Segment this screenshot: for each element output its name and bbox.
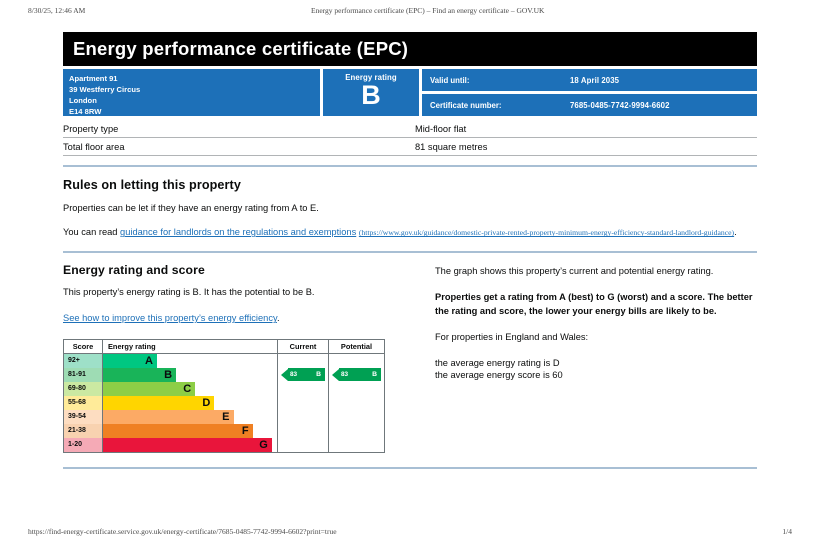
- energy-rating-badge: Energy rating B: [323, 69, 419, 116]
- arrow-left-icon: [332, 369, 339, 381]
- epc-graph-header: Score Energy rating Current Potential: [64, 340, 384, 354]
- rating-bar-c: C: [103, 382, 277, 396]
- rules-heading: Rules on letting this property: [63, 178, 757, 192]
- explainer-paragraph-3: For properties in England and Wales:: [435, 331, 757, 344]
- explainer-paragraph-2: Properties get a rating from A (best) to…: [435, 291, 757, 318]
- rating-score-column: Energy rating and score This property’s …: [63, 263, 435, 453]
- address-line-3: London: [69, 96, 320, 107]
- address-line-2: 39 Westferry Circus: [69, 85, 320, 96]
- property-type-value: Mid-floor flat: [415, 124, 466, 134]
- property-details-table: Property type Mid-floor flat Total floor…: [63, 120, 757, 156]
- rating-bar-label-e: E: [103, 410, 234, 424]
- current-rating-marker-letter: B: [316, 371, 321, 378]
- address-line-4: E14 8RW: [69, 107, 320, 118]
- rating-bar-label-a: A: [103, 354, 157, 368]
- address-line-1: Apartment 91: [69, 74, 320, 85]
- epc-score-column: 92+81-9169-8055-6839-5421-381-20: [64, 354, 103, 452]
- rating-bar-label-d: D: [103, 396, 214, 410]
- property-type-label: Property type: [63, 124, 415, 134]
- explainer-averages: the average energy rating is D the avera…: [435, 357, 757, 382]
- print-header: 8/30/25, 12:46 AM Energy performance cer…: [0, 6, 820, 18]
- score-band-a: 92+: [64, 354, 102, 368]
- rating-bar-g: G: [103, 438, 277, 452]
- page-title: Energy performance certificate (EPC): [63, 32, 757, 66]
- current-rating-marker-body: 83B: [288, 368, 325, 381]
- rating-bar-a: A: [103, 354, 277, 368]
- potential-rating-marker-body: 83B: [339, 368, 381, 381]
- rating-bar-label-b: B: [103, 368, 176, 382]
- certificate-number-label: Certificate number:: [422, 101, 570, 110]
- table-row: Total floor area 81 square metres: [63, 138, 757, 156]
- print-header-title: Energy performance certificate (EPC) – F…: [311, 6, 544, 15]
- rating-bar-f: F: [103, 424, 277, 438]
- landlord-guidance-link[interactable]: guidance for landlords on the regulation…: [120, 227, 356, 237]
- print-footer-url: https://find-energy-certificate.service.…: [28, 527, 337, 536]
- score-band-e: 39-54: [64, 410, 102, 424]
- graph-explainer-column: The graph shows this property’s current …: [435, 263, 757, 453]
- certificate-meta: Valid until: 18 April 2035 Certificate n…: [422, 69, 757, 116]
- score-band-c: 69-80: [64, 382, 102, 396]
- score-band-g: 1-20: [64, 438, 102, 452]
- section-divider-2: [63, 251, 757, 253]
- energy-rating-grade: B: [323, 83, 419, 109]
- print-footer: https://find-energy-certificate.service.…: [0, 527, 820, 539]
- rating-score-paragraph: This property’s energy rating is B. It h…: [63, 286, 333, 299]
- improve-link-trailing: .: [277, 313, 280, 323]
- score-band-b: 81-91: [64, 368, 102, 382]
- rating-bar-label-c: C: [103, 382, 195, 396]
- print-header-date: 8/30/25, 12:46 AM: [28, 6, 85, 15]
- average-score-text: the average energy score is 60: [435, 370, 563, 380]
- floor-area-label: Total floor area: [63, 142, 415, 152]
- landlord-guidance-url: (https://www.gov.uk/guidance/domestic-pr…: [359, 228, 734, 237]
- potential-rating-marker: 83B: [332, 368, 381, 381]
- rating-bar-label-g: G: [103, 438, 272, 452]
- rating-bar-e: E: [103, 410, 277, 424]
- score-band-d: 55-68: [64, 396, 102, 410]
- certificate-sheet: Energy performance certificate (EPC) Apa…: [63, 32, 757, 469]
- guidance-prefix: You can read: [63, 227, 120, 237]
- column-header-current: Current: [278, 340, 329, 353]
- valid-until-label: Valid until:: [422, 76, 570, 85]
- print-footer-page: 1/4: [782, 527, 792, 536]
- floor-area-value: 81 square metres: [415, 142, 487, 152]
- valid-until-value: 18 April 2035: [570, 76, 619, 85]
- explainer-paragraph-1: The graph shows this property’s current …: [435, 265, 757, 278]
- guidance-trailing: .: [734, 227, 737, 237]
- section-divider: [63, 165, 757, 167]
- section-divider-3: [63, 467, 757, 469]
- potential-rating-marker-letter: B: [372, 371, 377, 378]
- rules-paragraph: Properties can be let if they have an en…: [63, 202, 757, 216]
- certificate-number-row: Certificate number: 7685-0485-7742-9994-…: [422, 94, 757, 116]
- current-rating-marker-score: 83: [290, 371, 297, 378]
- property-address: Apartment 91 39 Westferry Circus London …: [63, 69, 320, 116]
- rating-and-graph-columns: Energy rating and score This property’s …: [63, 263, 757, 453]
- column-header-rating: Energy rating: [103, 340, 278, 353]
- epc-graph-body: 92+81-9169-8055-6839-5421-381-20 ABCDEFG…: [64, 354, 384, 452]
- certificate-summary-strip: Apartment 91 39 Westferry Circus London …: [63, 69, 757, 116]
- valid-until-row: Valid until: 18 April 2035: [422, 69, 757, 91]
- average-rating-text: the average energy rating is D: [435, 358, 560, 368]
- column-header-potential: Potential: [329, 340, 384, 353]
- improve-efficiency-link[interactable]: See how to improve this property’s energ…: [63, 313, 277, 323]
- improve-efficiency-paragraph: See how to improve this property’s energ…: [63, 312, 329, 325]
- table-row: Property type Mid-floor flat: [63, 120, 757, 138]
- epc-rating-graph: Score Energy rating Current Potential 92…: [63, 339, 385, 453]
- score-band-f: 21-38: [64, 424, 102, 438]
- column-header-score: Score: [64, 340, 103, 353]
- epc-potential-column: 83B: [329, 354, 384, 452]
- arrow-left-icon: [281, 369, 288, 381]
- certificate-number-value: 7685-0485-7742-9994-6602: [570, 101, 670, 110]
- epc-bars-column: ABCDEFG: [103, 354, 278, 452]
- rating-score-heading: Energy rating and score: [63, 263, 435, 277]
- rating-bar-d: D: [103, 396, 277, 410]
- current-rating-marker: 83B: [281, 368, 325, 381]
- rules-guidance-paragraph: You can read guidance for landlords on t…: [63, 226, 757, 239]
- epc-current-column: 83B: [278, 354, 329, 452]
- rating-bar-b: B: [103, 368, 277, 382]
- rating-bar-label-f: F: [103, 424, 253, 438]
- potential-rating-marker-score: 83: [341, 371, 348, 378]
